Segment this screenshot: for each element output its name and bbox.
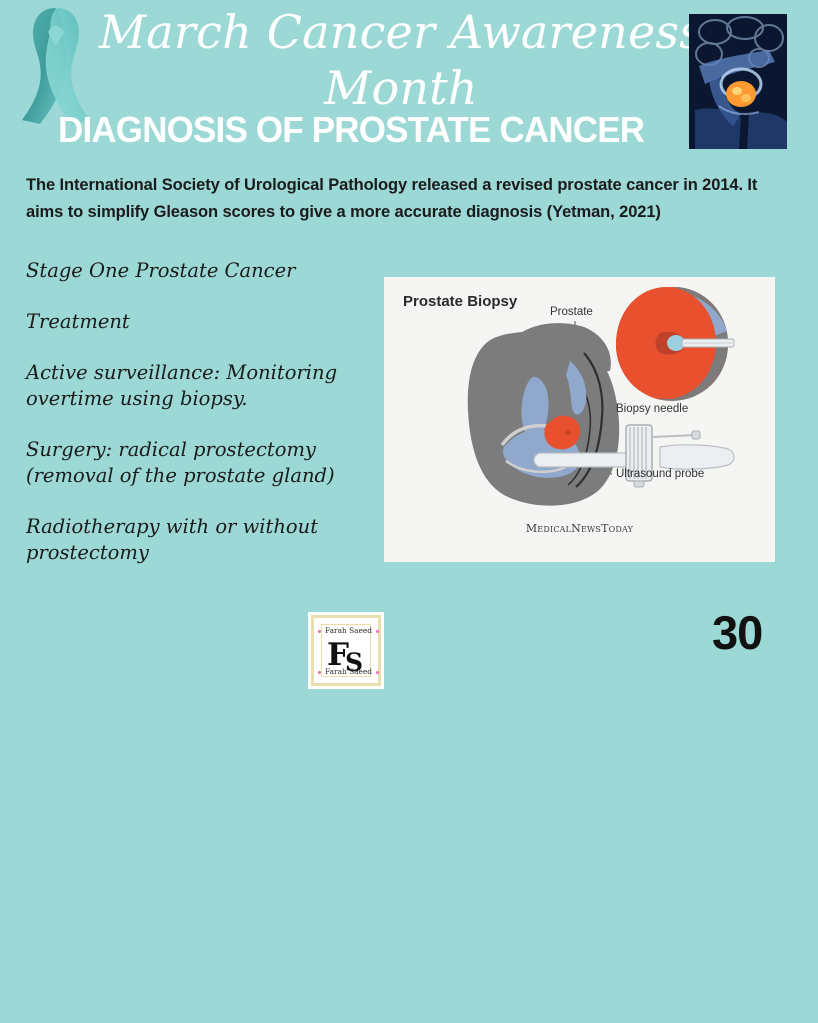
poster-page: March Cancer Awareness Month DIAGNOSIS O… — [0, 0, 818, 1023]
biopsy-illustration — [384, 277, 775, 562]
logo-top-text-row: Farah Saeed — [314, 626, 378, 635]
text-block-surgery: Surgery: radical prostectomy (removal of… — [26, 437, 376, 489]
text-block-radiotherapy: Radiotherapy with or without prostectomy — [26, 514, 376, 566]
page-number: 30 — [712, 608, 762, 658]
logo-bottom-text-row: Farah Saeed — [314, 667, 378, 676]
logo-frame: Farah Saeed FS Farah Saeed — [311, 615, 381, 686]
page-subtitle: DIAGNOSIS OF PROSTATE CANCER — [58, 110, 737, 150]
left-content-column: Stage One Prostate Cancer Treatment Acti… — [26, 258, 376, 566]
logo-top-text: Farah Saeed — [325, 626, 372, 635]
diagram-label-prostate: Prostate — [550, 306, 593, 318]
text-block-active-surveillance: Active surveillance: Monitoring overtime… — [26, 360, 376, 412]
awareness-ribbon-icon — [8, 2, 104, 126]
intro-paragraph: The International Society of Urological … — [26, 172, 768, 226]
poster-header: March Cancer Awareness Month DIAGNOSIS O… — [0, 0, 818, 152]
logo-bottom-text: Farah Saeed — [325, 667, 372, 676]
logo-dot-bottom-right-icon — [376, 671, 379, 674]
title-block: March Cancer Awareness Month — [96, 4, 706, 116]
diagram-label-ultrasound-probe: Ultrasound probe — [616, 468, 704, 480]
prostate-xray-image — [689, 14, 787, 149]
logo-dot-bottom-left-icon — [318, 671, 321, 674]
prostate-biopsy-diagram-panel: Prostate Biopsy — [384, 277, 775, 562]
text-block-stage-one: Stage One Prostate Cancer — [26, 258, 376, 284]
page-title-line1: March Cancer Awareness — [96, 4, 706, 60]
logo-dot-left-icon — [318, 630, 321, 633]
diagram-credit: MedicalNewsToday — [384, 522, 775, 535]
page-title-line2: Month — [96, 60, 706, 116]
text-block-treatment: Treatment — [26, 309, 376, 335]
author-logo: Farah Saeed FS Farah Saeed — [308, 612, 384, 689]
logo-dot-right-icon — [376, 630, 379, 633]
diagram-label-biopsy-needle: Biopsy needle — [616, 403, 688, 415]
